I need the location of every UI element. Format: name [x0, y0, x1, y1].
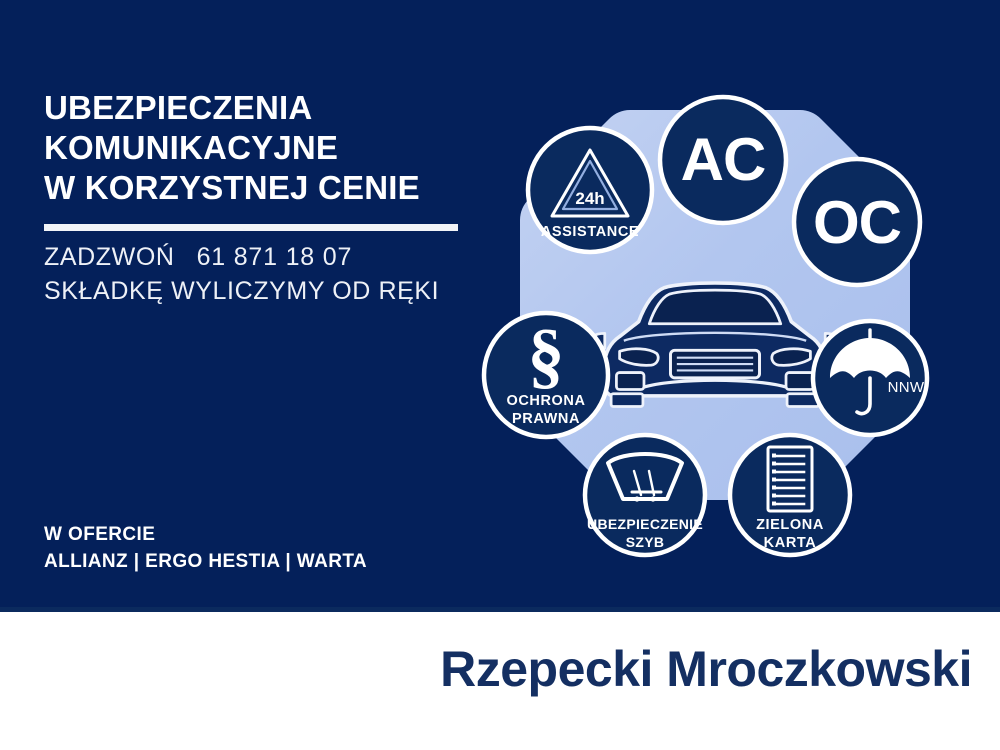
headline-line-1: UBEZPIECZENIA [44, 88, 484, 128]
badge-zielona-karta[interactable]: ZIELONA KARTA [730, 435, 850, 555]
badge-oc[interactable]: OC [794, 159, 920, 285]
badge-ac-label: AC [681, 126, 766, 193]
headline-divider-rule [44, 224, 458, 231]
insurance-products-cluster: 24h ASSISTANCE AC OC [480, 70, 950, 590]
subheadline-block: ZADZWOŃ61 871 18 07 SKŁADKĘ WYLICZYMY OD… [44, 240, 514, 308]
badge-oc-label: OC [813, 189, 901, 256]
insurance-advert-poster: UBEZPIECZENIA KOMUNIKACYJNE W KORZYSTNEJ… [0, 0, 1000, 750]
badge-ochrona-prawna[interactable]: § OCHRONA PRAWNA [484, 313, 608, 437]
badge-zielona-karta-label-1: ZIELONA [756, 517, 824, 533]
badge-ochrona-prawna-label-1: OCHRONA [506, 393, 585, 409]
headline-line-3: W KORZYSTNEJ CENIE [44, 168, 484, 208]
paragraph-section-icon: § [528, 315, 565, 397]
badge-zielona-karta-label-2: KARTA [764, 535, 817, 551]
offer-partners: ALLIANZ | ERGO HESTIA | WARTA [44, 548, 367, 575]
badge-assistance-label: ASSISTANCE [541, 224, 639, 240]
call-to-action-row: ZADZWOŃ61 871 18 07 [44, 240, 514, 274]
headline-block: UBEZPIECZENIA KOMUNIKACYJNE W KORZYSTNEJ… [44, 88, 484, 208]
headline-line-2: KOMUNIKACYJNE [44, 128, 484, 168]
badge-ac[interactable]: AC [660, 97, 786, 223]
badge-assistance-inner-label: 24h [575, 189, 604, 208]
phone-number[interactable]: 61 871 18 07 [197, 243, 353, 271]
badge-ochrona-prawna-label-2: PRAWNA [512, 411, 580, 427]
call-label: ZADZWOŃ [44, 243, 175, 271]
badge-ubezpieczenie-szyb-label-1: UBEZPIECZENIE [587, 516, 703, 532]
offer-block: W OFERCIE ALLIANZ | ERGO HESTIA | WARTA [44, 521, 367, 575]
brand-footer-bar: Rzepecki Mroczkowski [0, 612, 1000, 750]
badge-nnw-label: NNW [888, 379, 925, 396]
badge-ubezpieczenie-szyb-label-2: SZYB [626, 534, 665, 550]
badge-nnw[interactable]: NNW [813, 321, 927, 435]
subheadline-line-2: SKŁADKĘ WYLICZYMY OD RĘKI [44, 274, 514, 308]
brand-name: Rzepecki Mroczkowski [440, 640, 972, 698]
offer-title: W OFERCIE [44, 521, 367, 548]
navy-background-panel: UBEZPIECZENIA KOMUNIKACYJNE W KORZYSTNEJ… [0, 0, 1000, 612]
badge-assistance[interactable]: 24h ASSISTANCE [528, 128, 652, 252]
badge-ubezpieczenie-szyb[interactable]: UBEZPIECZENIE SZYB [585, 435, 705, 555]
